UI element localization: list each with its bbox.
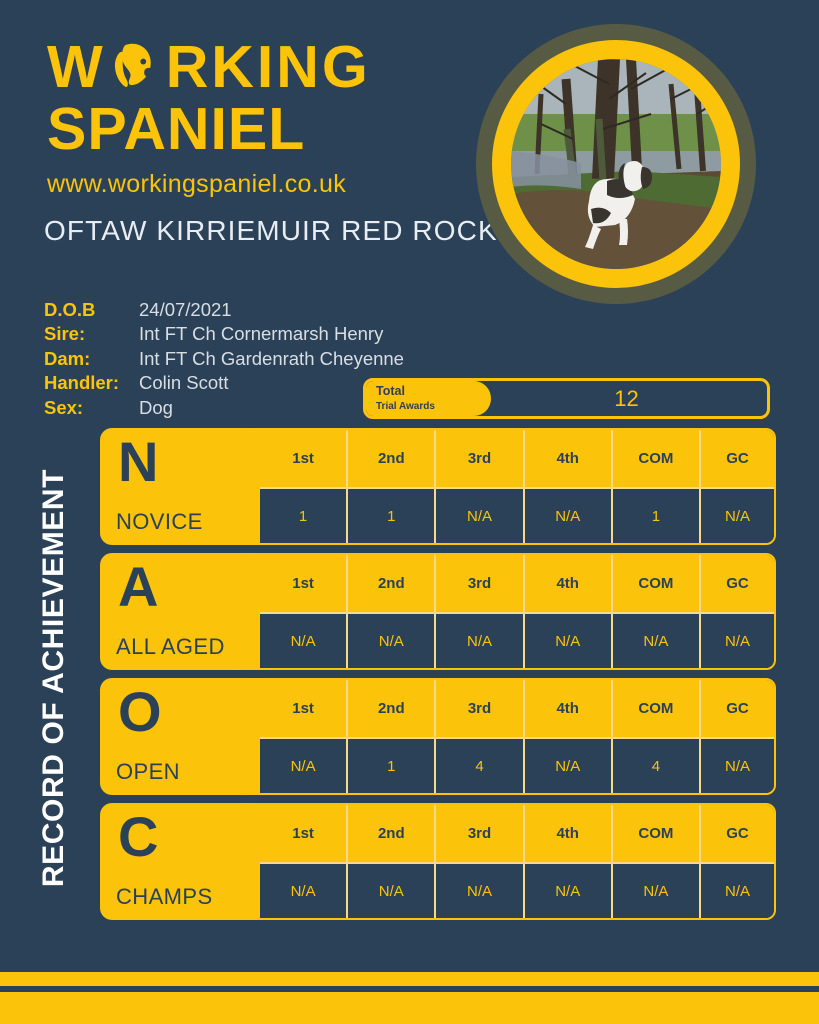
record-of-achievement-title: RECORD OF ACHIEVEMENT <box>28 430 80 925</box>
dog-photo <box>511 59 721 269</box>
detail-value: Int FT Ch Cornermarsh Henry <box>139 322 383 346</box>
badge-label: ALL AGED <box>116 634 225 660</box>
grid-header-row: 1st 2nd 3rd 4th COM GC <box>260 805 774 862</box>
result-cell: N/A <box>525 489 613 546</box>
column-header: GC <box>701 805 774 862</box>
results-grid-open: 1st 2nd 3rd 4th COM GC N/A 1 4 N/A 4 N/A <box>258 678 776 795</box>
grid-header-row: 1st 2nd 3rd 4th COM GC <box>260 430 774 487</box>
result-cell: N/A <box>436 614 524 671</box>
record-table: N NOVICE 1st 2nd 3rd 4th COM GC 1 1 N/A … <box>100 428 776 928</box>
column-header: COM <box>613 805 701 862</box>
spaniel-head-icon <box>107 38 165 96</box>
result-cell: N/A <box>701 739 774 796</box>
result-cell: 1 <box>348 739 436 796</box>
column-header: 4th <box>525 680 613 737</box>
column-header: 3rd <box>436 805 524 862</box>
dog-details: D.O.B 24/07/2021 Sire: Int FT Ch Cornerm… <box>44 298 404 420</box>
result-cell: 4 <box>436 739 524 796</box>
detail-label: Handler: <box>44 371 139 395</box>
record-row-open: O OPEN 1st 2nd 3rd 4th COM GC N/A 1 4 N/… <box>100 678 776 795</box>
result-cell: 1 <box>260 489 348 546</box>
column-header: COM <box>613 555 701 612</box>
record-row-novice: N NOVICE 1st 2nd 3rd 4th COM GC 1 1 N/A … <box>100 428 776 545</box>
class-badge-champs: C CHAMPS <box>100 803 260 920</box>
detail-row: Dam: Int FT Ch Gardenrath Cheyenne <box>44 347 404 371</box>
total-trial-awards: Total Trial Awards 12 <box>363 378 770 419</box>
grid-value-row: 1 1 N/A N/A 1 N/A <box>260 487 774 546</box>
column-header: 1st <box>260 555 348 612</box>
badge-letter: A <box>118 559 158 615</box>
photo-ring <box>492 40 740 288</box>
detail-value: 24/07/2021 <box>139 298 232 322</box>
column-header: 3rd <box>436 430 524 487</box>
column-header: 1st <box>260 430 348 487</box>
result-cell: N/A <box>701 489 774 546</box>
column-header: 3rd <box>436 680 524 737</box>
total-caption-bottom: Trial Awards <box>376 401 435 412</box>
result-cell: N/A <box>525 864 613 921</box>
column-header: 1st <box>260 680 348 737</box>
result-cell: N/A <box>260 614 348 671</box>
results-grid-all-aged: 1st 2nd 3rd 4th COM GC N/A N/A N/A N/A N… <box>258 553 776 670</box>
result-cell: N/A <box>701 864 774 921</box>
detail-value: Dog <box>139 396 173 420</box>
brand-url[interactable]: www.workingspaniel.co.uk <box>47 170 467 199</box>
result-cell: 4 <box>613 739 701 796</box>
badge-letter: C <box>118 809 158 865</box>
badge-letter: O <box>118 684 162 740</box>
column-header: 2nd <box>348 680 436 737</box>
result-cell: N/A <box>348 614 436 671</box>
grid-header-row: 1st 2nd 3rd 4th COM GC <box>260 555 774 612</box>
footer-stripe-thin <box>0 972 819 986</box>
class-badge-all-aged: A ALL AGED <box>100 553 260 670</box>
detail-value: Colin Scott <box>139 371 228 395</box>
total-caption-top: Total <box>376 384 405 398</box>
detail-label: Sire: <box>44 322 139 346</box>
result-cell: N/A <box>436 864 524 921</box>
column-header: GC <box>701 555 774 612</box>
detail-value: Int FT Ch Gardenrath Cheyenne <box>139 347 404 371</box>
grid-value-row: N/A 1 4 N/A 4 N/A <box>260 737 774 796</box>
column-header: 1st <box>260 805 348 862</box>
result-cell: 1 <box>348 489 436 546</box>
detail-label: Dam: <box>44 347 139 371</box>
badge-label: OPEN <box>116 759 180 785</box>
detail-label: D.O.B <box>44 298 139 322</box>
brand-line-2: SPANIEL <box>47 102 467 156</box>
result-cell: N/A <box>348 864 436 921</box>
grid-value-row: N/A N/A N/A N/A N/A N/A <box>260 612 774 671</box>
detail-row: Handler: Colin Scott <box>44 371 404 395</box>
column-header: COM <box>613 680 701 737</box>
badge-letter: N <box>118 434 158 490</box>
brand-line-1-pre: W <box>47 40 106 94</box>
detail-row: D.O.B 24/07/2021 <box>44 298 404 322</box>
column-header: 3rd <box>436 555 524 612</box>
column-header: COM <box>613 430 701 487</box>
result-cell: N/A <box>613 614 701 671</box>
column-header: 4th <box>525 555 613 612</box>
brand-line-1: W RKING <box>47 38 467 96</box>
grid-header-row: 1st 2nd 3rd 4th COM GC <box>260 680 774 737</box>
grid-value-row: N/A N/A N/A N/A N/A N/A <box>260 862 774 921</box>
detail-row: Sire: Int FT Ch Cornermarsh Henry <box>44 322 404 346</box>
class-badge-novice: N NOVICE <box>100 428 260 545</box>
column-header: 2nd <box>348 430 436 487</box>
brand-logo: W RKING SPANIEL www.workingspaniel.co.uk <box>47 38 467 199</box>
result-cell: N/A <box>525 739 613 796</box>
result-cell: N/A <box>701 614 774 671</box>
detail-label: Sex: <box>44 396 139 420</box>
page-title: OFTAW KIRRIEMUIR RED ROCK <box>44 215 498 247</box>
brand-line-1-post: RKING <box>166 40 371 94</box>
class-badge-open: O OPEN <box>100 678 260 795</box>
record-of-achievement-label: RECORD OF ACHIEVEMENT <box>37 468 71 886</box>
column-header: GC <box>701 680 774 737</box>
results-grid-champs: 1st 2nd 3rd 4th COM GC N/A N/A N/A N/A N… <box>258 803 776 920</box>
result-cell: N/A <box>613 864 701 921</box>
column-header: 4th <box>525 805 613 862</box>
record-row-all-aged: A ALL AGED 1st 2nd 3rd 4th COM GC N/A N/… <box>100 553 776 670</box>
results-grid-novice: 1st 2nd 3rd 4th COM GC 1 1 N/A N/A 1 N/A <box>258 428 776 545</box>
pedigree-card: W RKING SPANIEL www.workingspaniel.co.uk… <box>0 0 819 1024</box>
result-cell: N/A <box>260 739 348 796</box>
dog-photo-frame <box>476 24 756 304</box>
column-header: 2nd <box>348 555 436 612</box>
column-header: GC <box>701 430 774 487</box>
column-header: 2nd <box>348 805 436 862</box>
column-header: 4th <box>525 430 613 487</box>
badge-label: CHAMPS <box>116 884 213 910</box>
detail-row: Sex: Dog <box>44 396 404 420</box>
result-cell: N/A <box>436 489 524 546</box>
result-cell: 1 <box>613 489 701 546</box>
result-cell: N/A <box>525 614 613 671</box>
footer-stripe-thick <box>0 992 819 1024</box>
result-cell: N/A <box>260 864 348 921</box>
badge-label: NOVICE <box>116 509 203 535</box>
total-value: 12 <box>486 381 767 416</box>
record-row-champs: C CHAMPS 1st 2nd 3rd 4th COM GC N/A N/A … <box>100 803 776 920</box>
